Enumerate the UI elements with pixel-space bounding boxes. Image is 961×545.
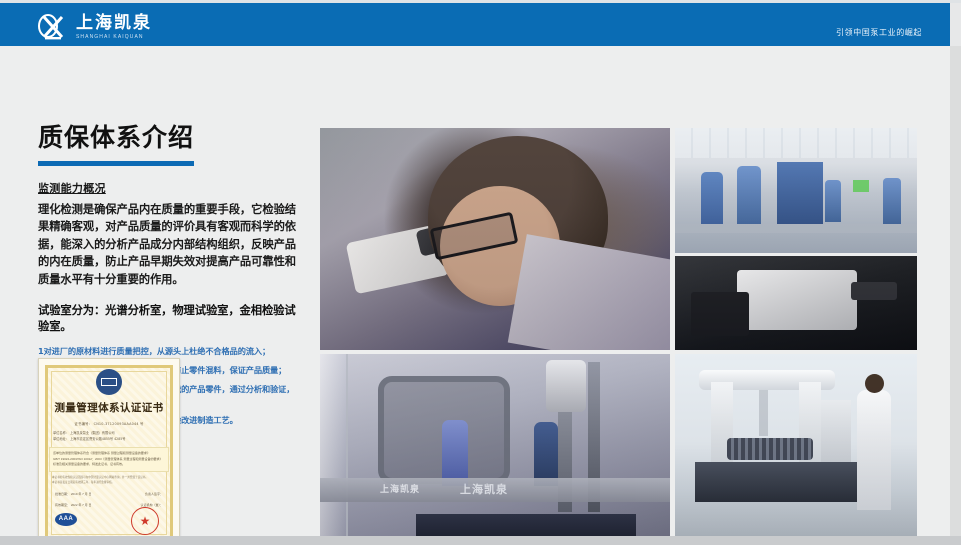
certificate-approval-date: 批准日期： 2019 年 7 月 日 xyxy=(55,492,92,496)
page-right-edge xyxy=(950,46,961,536)
certificate-note-line: 本证书自发证日期起有效期三年，每年进行监督审核。 xyxy=(52,481,166,486)
certificate-content: 测量管理体系认证证书 证书编号： CN10-37120093AAA044 号 单… xyxy=(49,367,169,539)
certificate-body-text: 该单位的测量管理体系符合《测量管理体系 测量过程和测量设备的要求》 GB/T 1… xyxy=(49,447,169,472)
photo-tint xyxy=(675,128,917,253)
certificate-title: 测量管理体系认证证书 xyxy=(49,400,169,415)
logo-chinese-name: 上海凯泉 xyxy=(76,15,152,32)
page-header: 上海凯泉 SHANGHAI KAIQUAN 引领中国泵工业的崛起 xyxy=(0,3,950,46)
lab-classification-line: 试验室分为：光谱分析室，物理试验室，金相检验试验室。 xyxy=(38,302,296,334)
certificate-valid-until: 有效期至： 2022 年 7 月 日 xyxy=(55,503,92,507)
logo-english-name: SHANGHAI KAIQUAN xyxy=(76,35,152,40)
title-underline-rule xyxy=(38,161,194,166)
photo-tint xyxy=(675,354,917,545)
photo-testing-machine[interactable]: 上海凯泉 上海凯泉 xyxy=(320,354,670,545)
photo-measuring-instrument[interactable] xyxy=(675,256,917,350)
page-body: 质保体系介绍 监测能力概况 理化检测是确保产品内在质量的重要手段，它检验结果精确… xyxy=(0,46,950,536)
photo-tint xyxy=(320,128,670,350)
list-item: 1对进厂的原材料进行质量把控，从源头上杜绝不合格品的流入； xyxy=(38,346,296,358)
certificate-field: 单位地址： 上海市嘉定区曹安公路4855号 4285号 xyxy=(53,436,165,442)
photo-tint xyxy=(320,354,670,545)
photo-laboratory-room[interactable] xyxy=(675,128,917,253)
photo-engineer-microscope[interactable] xyxy=(320,128,670,350)
subsection-heading: 监测能力概况 xyxy=(38,180,296,196)
certificate-body-line: 标准及相关测量设备的要求，特发此证书，证书有效。 xyxy=(53,462,165,468)
intro-paragraph: 理化检测是确保产品内在质量的重要手段，它检验结果精确客观，对产品质量的评价具有客… xyxy=(38,201,296,289)
photo-tint xyxy=(675,256,917,350)
red-seal-icon: ★ xyxy=(131,507,159,535)
photo-grid: 上海凯泉 上海凯泉 xyxy=(320,128,917,545)
page-title: 质保体系介绍 xyxy=(38,124,296,152)
certification-emblem-icon xyxy=(96,369,122,395)
aaa-badge-icon: AAA xyxy=(55,513,77,526)
slide-root: 上海凯泉 SHANGHAI KAIQUAN 引领中国泵工业的崛起 质保体系介绍 … xyxy=(0,0,961,545)
header-right-edge xyxy=(950,3,961,46)
certificate-fields: 单位名称： 上海凯泉泵业（集团）有限公司 单位地址： 上海市嘉定区曹安公路485… xyxy=(49,430,169,442)
certificate-badges: AAA ★ xyxy=(49,509,169,535)
header-tagline: 引领中国泵工业的崛起 xyxy=(836,27,922,38)
photo-cmm-inspection[interactable] xyxy=(675,354,917,545)
certificate-body-line: 该单位的测量管理体系符合《测量管理体系 测量过程和测量设备的要求》 xyxy=(53,451,165,457)
logo-text-block: 上海凯泉 SHANGHAI KAIQUAN xyxy=(76,15,152,40)
company-logo[interactable]: 上海凯泉 SHANGHAI KAIQUAN xyxy=(36,12,152,42)
certificate-number: 证书编号： CN10-37120093AAA044 号 xyxy=(49,421,169,426)
certificate-signature-row: 批准日期： 2019 年 7 月 日 负责人签字： xyxy=(49,492,169,496)
certificate-signer: 负责人签字： xyxy=(145,492,163,496)
certificate-notes: 本证书的有效性和认证范围可在中国计量认证中心网站查询，并一并登载于该证书。 本证… xyxy=(49,476,169,486)
certificate-image[interactable]: 测量管理体系认证证书 证书编号： CN10-37120093AAA044 号 单… xyxy=(38,358,180,545)
page-bottom-edge xyxy=(0,536,961,545)
kaiquan-logo-icon xyxy=(36,13,70,41)
certificate-validity-row: 有效期至： 2022 年 7 月 日 认证机构（章）： xyxy=(49,503,169,507)
